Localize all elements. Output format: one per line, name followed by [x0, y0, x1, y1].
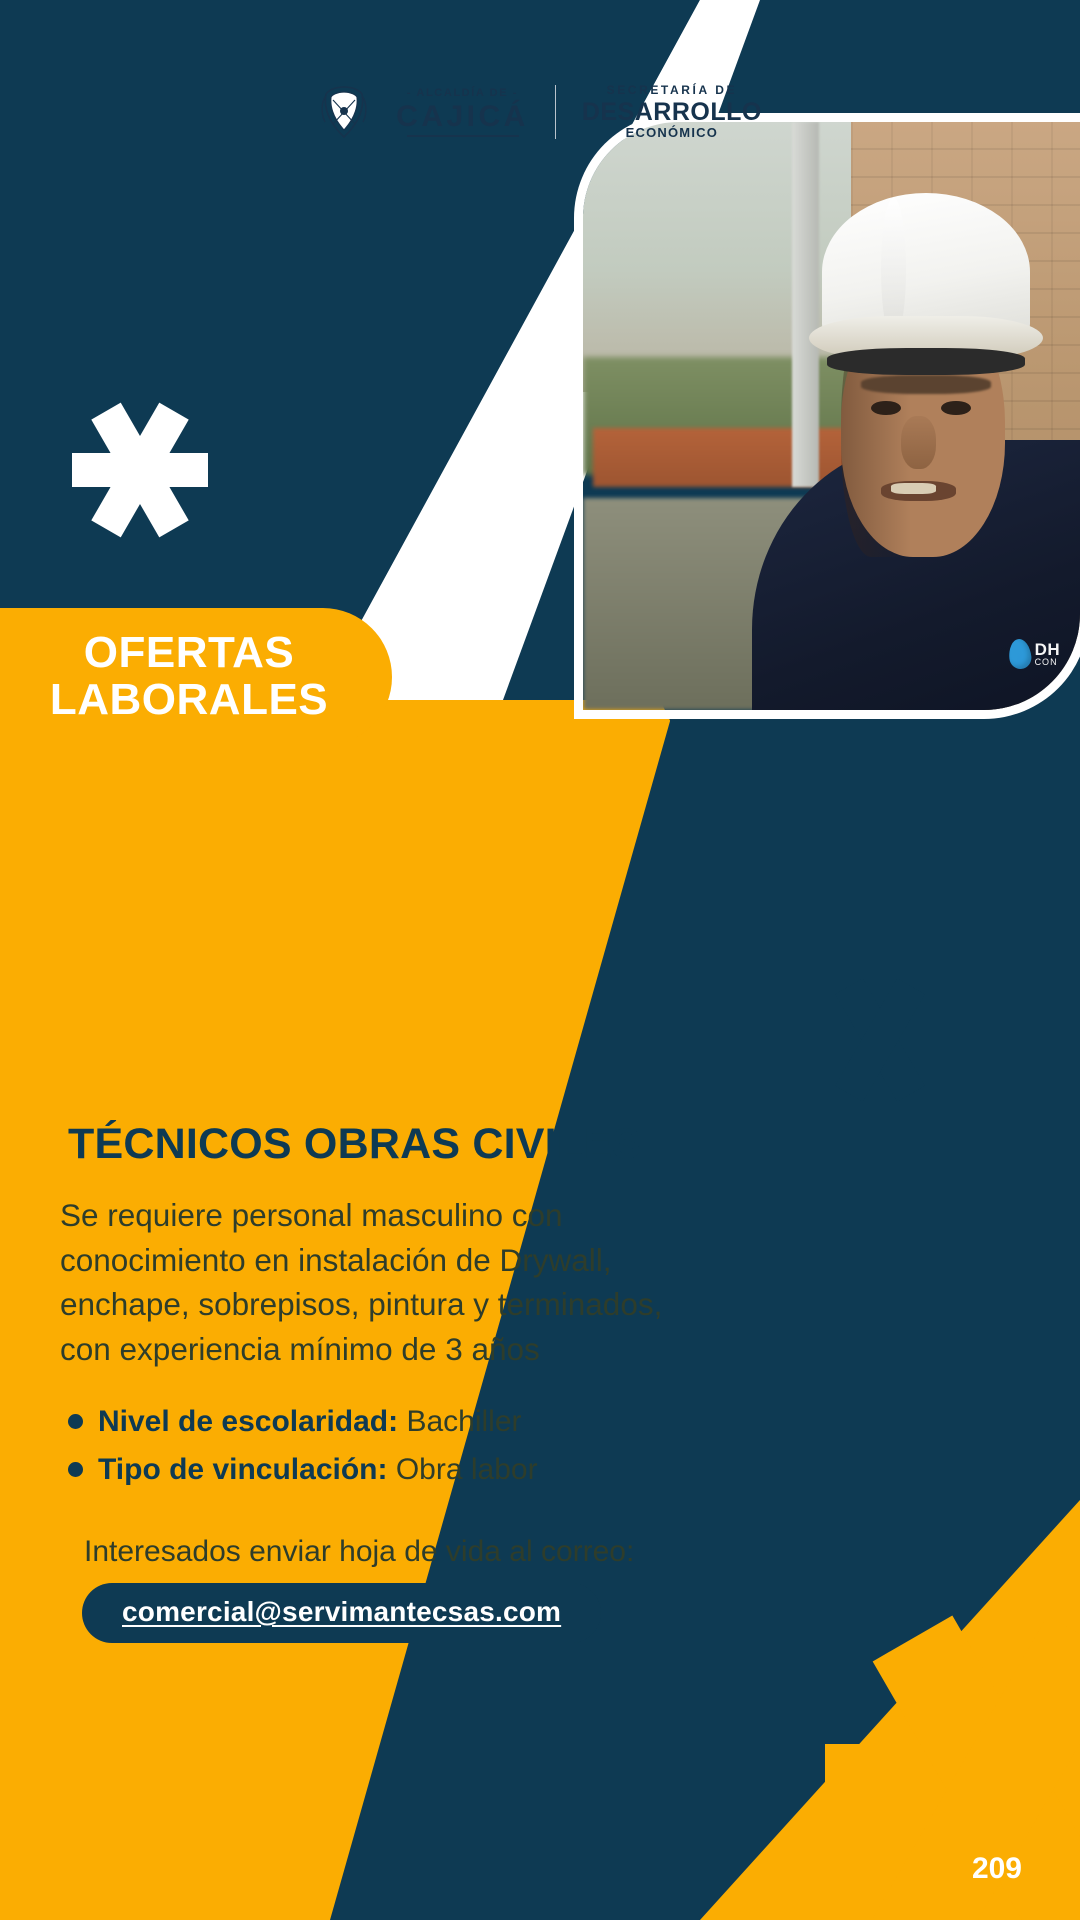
contact-prompt: Interesados enviar hoja de vida al corre…: [84, 1535, 700, 1569]
contact-email[interactable]: comercial@servimantecsas.com: [122, 1596, 561, 1627]
requirement-value: Obra labor: [396, 1453, 538, 1486]
cajica-wordmark: - ALCALDÍA DE - CAJICÁ: [396, 88, 529, 137]
asterisk-icon-bottom: [825, 1615, 1080, 1920]
list-item: Tipo de vinculación: Obra labor: [60, 1450, 700, 1491]
secretariat-wordmark: SECRETARÍA DE DESARROLLO ECONÓMICO: [582, 84, 762, 139]
badge-text: OFERTAS LABORALES: [4, 630, 328, 723]
header-logos: - ALCALDÍA DE - CAJICÁ SECRETARÍA DE DES…: [0, 84, 1080, 140]
shirt-logo-text: DH CON: [1035, 641, 1061, 667]
requirements-list: Nivel de escolaridad: Bachiller Tipo de …: [60, 1402, 700, 1491]
offer-content: TÉCNICOS OBRAS CIVILES Se requiere perso…: [0, 1120, 760, 1643]
photo-hard-hat-strap: [827, 348, 1026, 374]
secretariat-line2: DESARROLLO: [582, 99, 762, 125]
job-description: Se requiere personal masculino con conoc…: [60, 1193, 690, 1372]
cajica-coat-of-arms-icon: [318, 84, 370, 140]
asterisk-icon-middle: [818, 978, 942, 1101]
secretariat-line1: SECRETARÍA DE: [607, 84, 737, 97]
requirement-label: Tipo de vinculación:: [98, 1453, 387, 1486]
photo-worker-teeth: [891, 483, 936, 494]
municipality-name: CAJICÁ: [396, 102, 529, 132]
water-drop-icon: [1007, 638, 1032, 670]
page-number: 209: [972, 1852, 1022, 1886]
badge-line-1: OFERTAS: [50, 630, 328, 677]
photo-content: DH CON: [583, 122, 1080, 710]
list-item: Nivel de escolaridad: Bachiller: [60, 1402, 700, 1443]
photo-post: [792, 122, 819, 487]
photo-worker-nose: [901, 416, 936, 469]
wordmark-rule: [407, 135, 519, 137]
logo-divider: [555, 85, 556, 139]
job-offer-poster: - ALCALDÍA DE - CAJICÁ SECRETARÍA DE DES…: [0, 0, 1080, 1920]
ofertas-laborales-badge: OFERTAS LABORALES: [0, 608, 392, 746]
photo-worker-brow: [861, 375, 990, 394]
alcaldia-label: - ALCALDÍA DE -: [407, 88, 518, 99]
job-title: TÉCNICOS OBRAS CIVILES: [68, 1120, 700, 1169]
shirt-logo-sub: CON: [1035, 658, 1061, 667]
worker-photo: DH CON: [583, 122, 1080, 710]
badge-line-2: LABORALES: [50, 677, 328, 724]
requirement-value: Bachiller: [406, 1405, 521, 1438]
shirt-logo-name: DH: [1035, 641, 1061, 658]
requirement-label: Nivel de escolaridad:: [98, 1405, 398, 1438]
photo-shirt-logo: DH CON: [1009, 639, 1061, 669]
secretariat-line3: ECONÓMICO: [626, 126, 718, 140]
email-pill[interactable]: comercial@servimantecsas.com: [82, 1583, 601, 1643]
asterisk-icon-top: [72, 403, 208, 538]
